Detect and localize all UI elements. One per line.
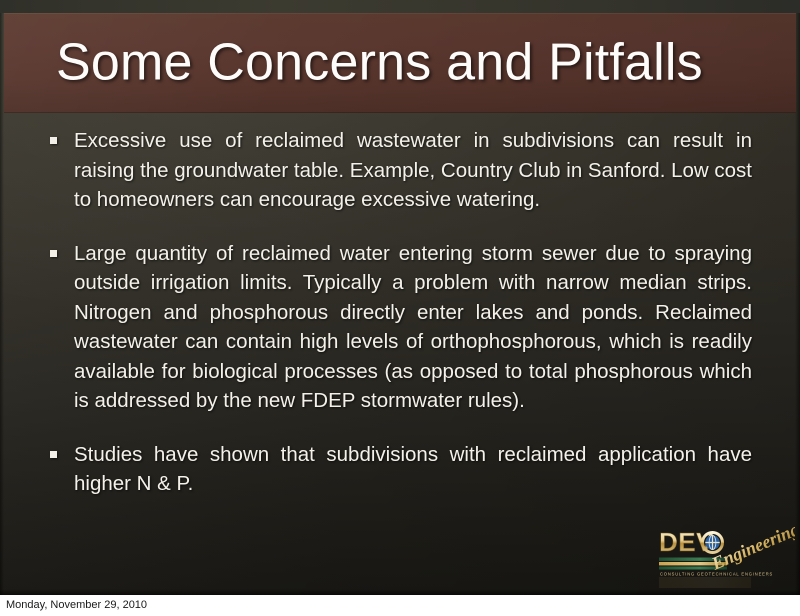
bullet-text-2: Large quantity of reclaimed water enteri…	[74, 239, 752, 416]
devo-globe-icon	[703, 533, 723, 553]
bullet-item-1: Excessive use of reclaimed wastewater in…	[0, 126, 800, 215]
footer-date-text: Monday, November 29, 2010	[6, 599, 147, 612]
slide-title-band: Some Concerns and Pitfalls	[4, 13, 796, 113]
slide-body: Excessive use of reclaimed wastewater in…	[0, 126, 800, 546]
devo-logo-artwork: DEV CONSULTING GEOTECHNICAL ENGINEERS En…	[655, 524, 795, 590]
footer-bar: Monday, November 29, 2010	[0, 595, 800, 616]
square-bullet-icon	[50, 137, 57, 144]
bullet-item-2: Large quantity of reclaimed water enteri…	[0, 239, 800, 416]
square-bullet-icon	[50, 250, 57, 257]
bullet-text-1: Excessive use of reclaimed wastewater in…	[74, 126, 752, 215]
slide-top-strip	[0, 0, 800, 13]
slide-canvas: Some Concerns and Pitfalls Excessive use…	[0, 0, 800, 595]
devo-engineering-logo: DEV CONSULTING GEOTECHNICAL ENGINEERS En…	[655, 524, 795, 590]
bullet-text-3: Studies have shown that subdivisions wit…	[74, 440, 752, 499]
page-title: Some Concerns and Pitfalls	[56, 36, 703, 91]
slide-root: Some Concerns and Pitfalls Excessive use…	[0, 0, 800, 616]
square-bullet-icon	[50, 451, 57, 458]
bullet-item-3: Studies have shown that subdivisions wit…	[0, 440, 800, 499]
